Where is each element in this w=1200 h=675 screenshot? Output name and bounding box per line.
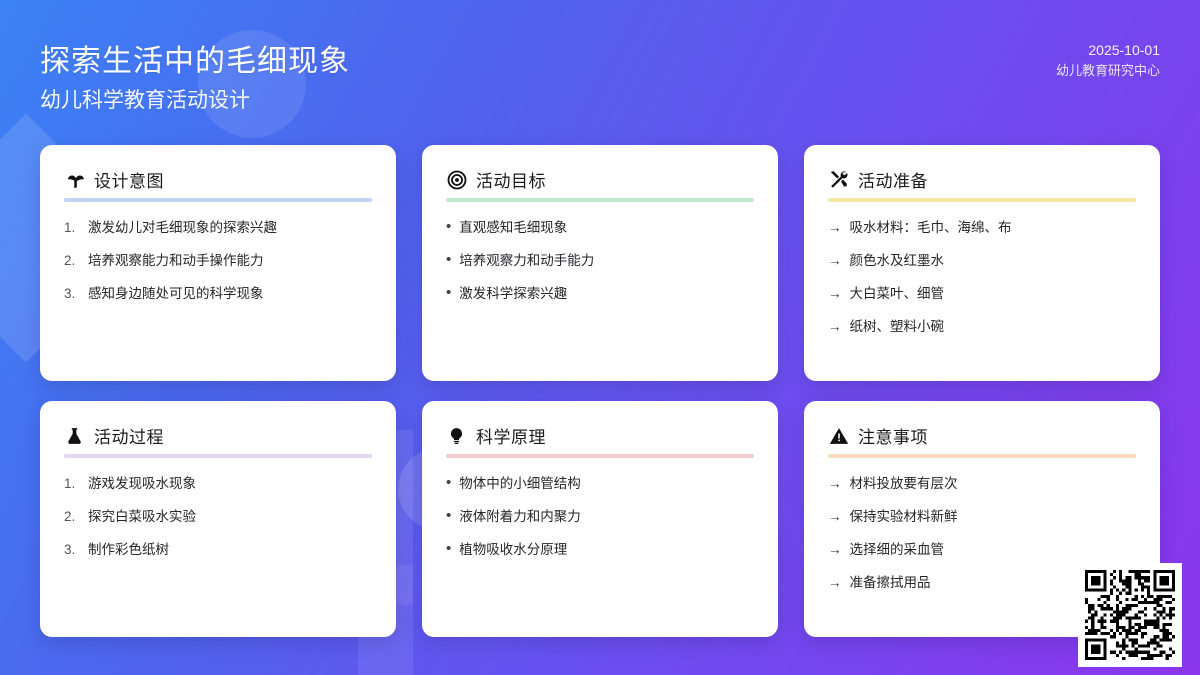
list-item: →吸水材料：毛巾、海绵、布 xyxy=(828,218,1136,237)
card-item-list: •直观感知毛细现象•培养观察力和动手能力•激发科学探索兴趣 xyxy=(446,218,754,303)
list-item: 1.游戏发现吸水现象 xyxy=(64,474,372,493)
list-item-text: 探究白菜吸水实验 xyxy=(88,507,372,526)
list-item: →材料投放要有层次 xyxy=(828,474,1136,493)
card-title: 活动过程 xyxy=(94,423,164,448)
card-title: 活动准备 xyxy=(858,167,928,192)
list-item: →保持实验材料新鲜 xyxy=(828,507,1136,526)
list-marker-arrow: → xyxy=(828,317,842,336)
list-item-text: 游戏发现吸水现象 xyxy=(88,474,372,493)
card-accent-rule xyxy=(64,198,372,202)
target-icon xyxy=(446,169,467,190)
list-marker-arrow: → xyxy=(828,251,842,270)
card-header: 活动准备 xyxy=(828,167,1136,198)
list-marker-bullet: • xyxy=(446,474,451,493)
list-item: →颜色水及红墨水 xyxy=(828,251,1136,270)
list-item-text: 选择细的采血管 xyxy=(850,540,1137,559)
list-marker-arrow: → xyxy=(828,573,842,592)
list-marker-number: 1. xyxy=(64,218,80,237)
card-item-list: →吸水材料：毛巾、海绵、布→颜色水及红墨水→大白菜叶、细管→纸树、塑料小碗 xyxy=(828,218,1136,336)
card-5: 科学原理•物体中的小细管结构•液体附着力和内聚力•植物吸收水分原理 xyxy=(422,401,778,637)
list-item-text: 制作彩色纸树 xyxy=(88,540,372,559)
list-item-text: 直观感知毛细现象 xyxy=(459,218,754,237)
list-item-text: 保持实验材料新鲜 xyxy=(850,507,1137,526)
list-item: •直观感知毛细现象 xyxy=(446,218,754,237)
card-item-list: •物体中的小细管结构•液体附着力和内聚力•植物吸收水分原理 xyxy=(446,474,754,559)
header-organization: 幼儿教育研究中心 xyxy=(1056,60,1160,82)
qr-code[interactable] xyxy=(1078,563,1182,667)
seedling-icon xyxy=(64,169,85,190)
list-item: 3.感知身边随处可见的科学现象 xyxy=(64,284,372,303)
list-item-text: 激发幼儿对毛细现象的探索兴趣 xyxy=(88,218,372,237)
list-marker-number: 2. xyxy=(64,251,80,270)
card-accent-rule xyxy=(828,454,1136,458)
list-marker-number: 2. xyxy=(64,507,80,526)
list-item-text: 纸树、塑料小碗 xyxy=(850,317,1137,336)
list-marker-arrow: → xyxy=(828,284,842,303)
list-item: →纸树、塑料小碗 xyxy=(828,317,1136,336)
slide-header: 探索生活中的毛细现象 幼儿科学教育活动设计 2025-10-01 幼儿教育研究中… xyxy=(0,0,1200,130)
list-marker-arrow: → xyxy=(828,218,842,237)
list-item: •物体中的小细管结构 xyxy=(446,474,754,493)
list-marker-bullet: • xyxy=(446,218,451,237)
list-marker-arrow: → xyxy=(828,540,842,559)
flask-icon xyxy=(64,425,85,446)
card-header: 注意事项 xyxy=(828,423,1136,454)
list-item: 3.制作彩色纸树 xyxy=(64,540,372,559)
list-item-text: 物体中的小细管结构 xyxy=(459,474,754,493)
list-item-text: 大白菜叶、细管 xyxy=(850,284,1137,303)
list-item: →大白菜叶、细管 xyxy=(828,284,1136,303)
list-item: →选择细的采血管 xyxy=(828,540,1136,559)
list-item-text: 培养观察能力和动手操作能力 xyxy=(88,251,372,270)
list-item-text: 感知身边随处可见的科学现象 xyxy=(88,284,372,303)
card-item-list: 1.游戏发现吸水现象2.探究白菜吸水实验3.制作彩色纸树 xyxy=(64,474,372,559)
list-marker-arrow: → xyxy=(828,507,842,526)
list-item-text: 材料投放要有层次 xyxy=(850,474,1137,493)
card-accent-rule xyxy=(828,198,1136,202)
list-item-text: 激发科学探索兴趣 xyxy=(459,284,754,303)
header-meta: 2025-10-01 幼儿教育研究中心 xyxy=(1056,40,1160,82)
card-title: 活动目标 xyxy=(476,167,546,192)
list-item-text: 液体附着力和内聚力 xyxy=(459,507,754,526)
card-2: 活动目标•直观感知毛细现象•培养观察力和动手能力•激发科学探索兴趣 xyxy=(422,145,778,381)
list-marker-number: 3. xyxy=(64,284,80,303)
card-title: 注意事项 xyxy=(858,423,928,448)
card-accent-rule xyxy=(446,198,754,202)
card-4: 活动过程1.游戏发现吸水现象2.探究白菜吸水实验3.制作彩色纸树 xyxy=(40,401,396,637)
list-item: 2.探究白菜吸水实验 xyxy=(64,507,372,526)
list-item: •植物吸收水分原理 xyxy=(446,540,754,559)
list-item-text: 培养观察力和动手能力 xyxy=(459,251,754,270)
list-marker-bullet: • xyxy=(446,251,451,270)
list-marker-arrow: → xyxy=(828,474,842,493)
card-accent-rule xyxy=(64,454,372,458)
list-item-text: 颜色水及红墨水 xyxy=(850,251,1137,270)
list-marker-number: 3. xyxy=(64,540,80,559)
warning-icon xyxy=(828,425,849,446)
page-title: 探索生活中的毛细现象 xyxy=(40,36,350,80)
list-item: 1.激发幼儿对毛细现象的探索兴趣 xyxy=(64,218,372,237)
card-1: 设计意图1.激发幼儿对毛细现象的探索兴趣2.培养观察能力和动手操作能力3.感知身… xyxy=(40,145,396,381)
list-marker-bullet: • xyxy=(446,507,451,526)
card-title: 科学原理 xyxy=(476,423,546,448)
card-header: 科学原理 xyxy=(446,423,754,454)
list-item: •培养观察力和动手能力 xyxy=(446,251,754,270)
list-item-text: 吸水材料：毛巾、海绵、布 xyxy=(850,218,1137,237)
card-header: 活动过程 xyxy=(64,423,372,454)
card-header: 设计意图 xyxy=(64,167,372,198)
list-marker-number: 1. xyxy=(64,474,80,493)
card-3: 活动准备→吸水材料：毛巾、海绵、布→颜色水及红墨水→大白菜叶、细管→纸树、塑料小… xyxy=(804,145,1160,381)
card-item-list: 1.激发幼儿对毛细现象的探索兴趣2.培养观察能力和动手操作能力3.感知身边随处可… xyxy=(64,218,372,303)
card-title: 设计意图 xyxy=(94,167,164,192)
list-item: •激发科学探索兴趣 xyxy=(446,284,754,303)
card-grid: 设计意图1.激发幼儿对毛细现象的探索兴趣2.培养观察能力和动手操作能力3.感知身… xyxy=(40,145,1160,637)
list-item-text: 植物吸收水分原理 xyxy=(459,540,754,559)
tools-icon xyxy=(828,169,849,190)
card-accent-rule xyxy=(446,454,754,458)
list-marker-bullet: • xyxy=(446,540,451,559)
header-date: 2025-10-01 xyxy=(1056,40,1160,60)
card-header: 活动目标 xyxy=(446,167,754,198)
list-marker-bullet: • xyxy=(446,284,451,303)
list-item: •液体附着力和内聚力 xyxy=(446,507,754,526)
list-item: 2.培养观察能力和动手操作能力 xyxy=(64,251,372,270)
page-subtitle: 幼儿科学教育活动设计 xyxy=(40,84,250,114)
lightbulb-icon xyxy=(446,425,467,446)
